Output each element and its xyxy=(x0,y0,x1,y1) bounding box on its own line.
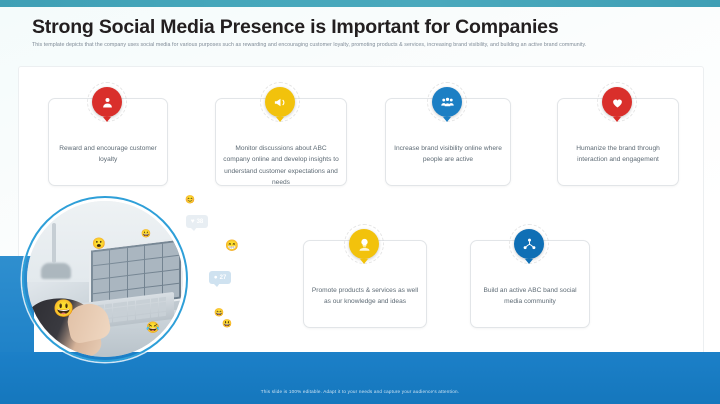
slide-canvas: Strong Social Media Presence is Importan… xyxy=(0,0,720,404)
emoji-reaction: 😮 xyxy=(92,239,106,250)
badge-humanize-brand xyxy=(598,83,636,121)
idea-hands-icon xyxy=(349,229,379,259)
card-text: Promote products & services as well as o… xyxy=(311,285,419,308)
card-text: Increase brand visibility online where p… xyxy=(393,143,503,166)
badge-promote-products xyxy=(345,225,383,263)
network-nodes-icon xyxy=(514,229,544,259)
comment-icon: ● xyxy=(214,274,218,281)
card-text: Humanize the brand through interaction a… xyxy=(565,143,671,166)
card-text: Monitor discussions about ABC company on… xyxy=(223,143,339,188)
top-accent-strip xyxy=(0,0,720,7)
comment-count-bubble: ● 27 xyxy=(209,271,231,284)
people-group-icon xyxy=(432,87,462,117)
card-text: Reward and encourage customer loyalty xyxy=(56,143,160,166)
badge-build-community xyxy=(510,225,548,263)
emoji-reaction: 😊 xyxy=(185,196,195,204)
badge-increase-visibility xyxy=(428,83,466,121)
card-text: Build an active ABC band social media co… xyxy=(478,285,582,308)
heart-hand-icon xyxy=(602,87,632,117)
emoji-reaction: 😁 xyxy=(225,241,239,252)
emoji-reaction: 😃 xyxy=(53,300,74,317)
footer-note: This slide is 100% editable. Adapt it to… xyxy=(0,389,720,394)
badge-reward-loyalty xyxy=(88,83,126,121)
photo-circle-ring xyxy=(22,196,188,362)
social-media-photo xyxy=(22,196,188,362)
like-count: 38 xyxy=(197,219,204,225)
emoji-reaction: 😄 xyxy=(214,309,224,317)
page-title: Strong Social Media Presence is Importan… xyxy=(32,16,682,39)
emoji-reaction: 😃 xyxy=(222,320,232,328)
comment-count: 27 xyxy=(220,275,227,281)
like-count-bubble: ♥ 38 xyxy=(186,215,208,228)
emoji-reaction: 😀 xyxy=(141,230,151,238)
megaphone-icon xyxy=(265,87,295,117)
user-badge-icon xyxy=(92,87,122,117)
badge-monitor-discussions xyxy=(261,83,299,121)
emoji-reaction: 😂 xyxy=(146,323,160,334)
heart-icon: ♥ xyxy=(191,218,195,225)
page-subtitle: This template depicts that the company u… xyxy=(32,41,684,50)
